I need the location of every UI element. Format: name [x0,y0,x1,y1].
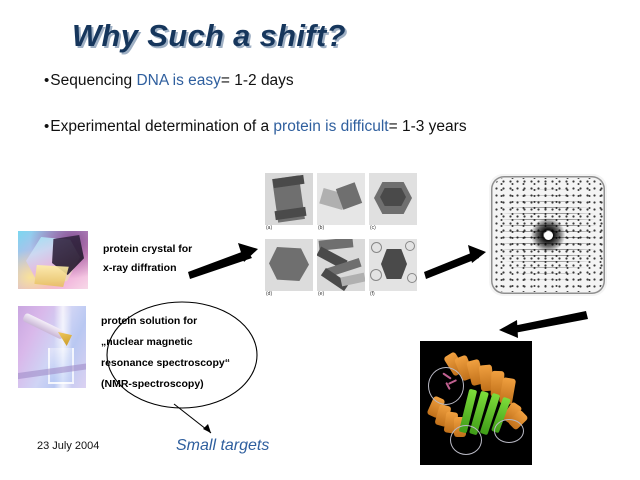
crystal-montage-row-2: (d) (e) (f) [265,239,417,295]
detector-edge [491,176,605,294]
bullet-item-2: •Experimental determination of a protein… [44,118,467,136]
crystal-label-e: (e) [318,291,324,297]
slide-title: Why Such a shift? [72,18,346,54]
arrow-montage-to-diffraction [424,245,486,279]
bullet-1-lead: Sequencing [50,72,136,89]
presentation-slide: Why Such a shift? •Sequencing DNA is eas… [0,0,640,480]
x-ray-diffraction-image [489,174,607,296]
crystal-cell-a [265,173,313,225]
arrow-diffraction-to-structure [499,311,588,338]
crystal-label-a: (a) [266,225,272,231]
crystal-cell-c [369,173,417,225]
caption-protein-crystal: protein crystal for x-ray diffration [103,240,192,278]
crystal-montage-image: (a) (b) (c) (d) (e) [265,173,417,305]
bullet-marker: • [44,72,49,89]
caption-protein-solution-nmr: protein solution for „nuclear magnetic r… [101,311,230,395]
arrow-ellipse-to-small-targets [174,404,211,433]
crystal-cell-f [369,239,417,291]
bullet-1-highlight: DNA is easy [136,72,220,89]
bullet-2-highlight: protein is difficult [273,118,388,135]
caption-nmr-line-2: „nuclear magnetic [101,332,230,353]
caption-nmr-line-4: (NMR-spectroscopy) [101,374,230,395]
crystal-cell-e [317,239,365,291]
crystal-label-b: (b) [318,225,324,231]
slide-date: 23 July 2004 [37,440,99,452]
caption-crystal-line-1: protein crystal for [103,240,192,259]
bullet-item-1: •Sequencing DNA is easy= 1-2 days [44,72,294,90]
crystal-cell-b [317,173,365,225]
caption-nmr-line-3: resonance spectroscopy“ [101,353,230,374]
annotation-small-targets: Small targets [176,437,269,455]
arrow-crystal-to-montage [188,243,258,279]
crystal-facet-amber [32,265,72,287]
protein-solution-photo [18,306,86,388]
bullet-2-lead: Experimental determination of a [50,118,273,135]
bullet-1-tail: = 1-2 days [221,72,294,89]
protein-crystal-photo [18,231,88,289]
protein-structure-image [420,341,532,465]
bullet-2-tail: = 1-3 years [389,118,467,135]
crystal-label-f: (f) [370,291,375,297]
crystal-label-c: (c) [370,225,376,231]
caption-crystal-line-2: x-ray diffration [103,259,192,278]
crystal-cell-d [265,239,313,291]
bullet-marker: • [44,118,49,135]
crystal-montage-row-1: (a) (b) (c) [265,173,417,229]
caption-nmr-line-1: protein solution for [101,311,230,332]
crystal-label-d: (d) [266,291,272,297]
